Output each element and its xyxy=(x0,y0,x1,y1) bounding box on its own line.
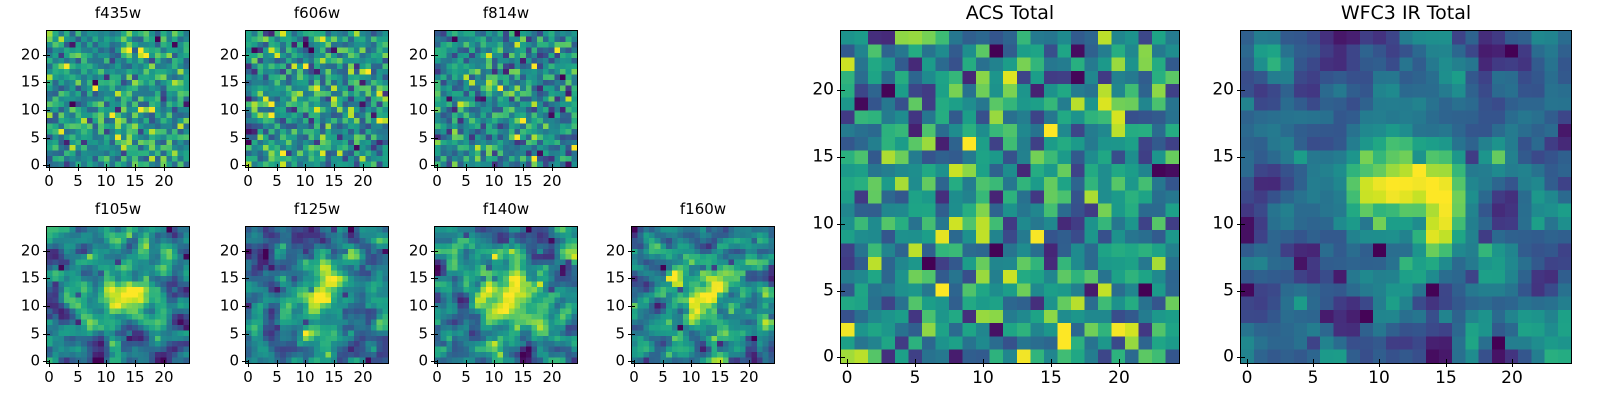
xticklabel-wfc3-ir-total-15: 15 xyxy=(1435,370,1457,387)
ytick-wfc3-ir-total-20 xyxy=(1237,90,1245,91)
heatmap-axes-wfc3-ir-total xyxy=(1240,30,1572,364)
xtick-wfc3-ir-total-10 xyxy=(1379,359,1380,367)
xticklabel-wfc3-ir-total-5: 5 xyxy=(1308,370,1319,387)
ytick-wfc3-ir-total-10 xyxy=(1237,224,1245,225)
xtick-wfc3-ir-total-0 xyxy=(1247,359,1248,367)
xtick-wfc3-ir-total-20 xyxy=(1512,359,1513,367)
ytick-wfc3-ir-total-0 xyxy=(1237,357,1245,358)
xticklabel-wfc3-ir-total-10: 10 xyxy=(1368,370,1390,387)
panel-title-wfc3-ir-total: WFC3 IR Total xyxy=(1240,4,1572,23)
yticklabel-wfc3-ir-total-15: 15 xyxy=(1182,149,1234,166)
xticklabel-wfc3-ir-total-0: 0 xyxy=(1242,370,1253,387)
ytick-wfc3-ir-total-15 xyxy=(1237,157,1245,158)
yticklabel-wfc3-ir-total-10: 10 xyxy=(1182,216,1234,233)
xticklabel-wfc3-ir-total-20: 20 xyxy=(1501,370,1523,387)
xtick-wfc3-ir-total-15 xyxy=(1446,359,1447,367)
yticklabel-wfc3-ir-total-20: 20 xyxy=(1182,82,1234,99)
yticklabel-wfc3-ir-total-5: 5 xyxy=(1182,283,1234,300)
yticklabel-wfc3-ir-total-0: 0 xyxy=(1182,349,1234,366)
xtick-wfc3-ir-total-5 xyxy=(1313,359,1314,367)
panel-wfc3-ir-total: WFC3 IR Total0510152005101520 xyxy=(0,0,1600,400)
figure-canvas: f435w0510152005101520f606w05101520051015… xyxy=(0,0,1600,400)
ytick-wfc3-ir-total-5 xyxy=(1237,291,1245,292)
heatmap-image-wfc3-ir-total xyxy=(1241,31,1571,363)
